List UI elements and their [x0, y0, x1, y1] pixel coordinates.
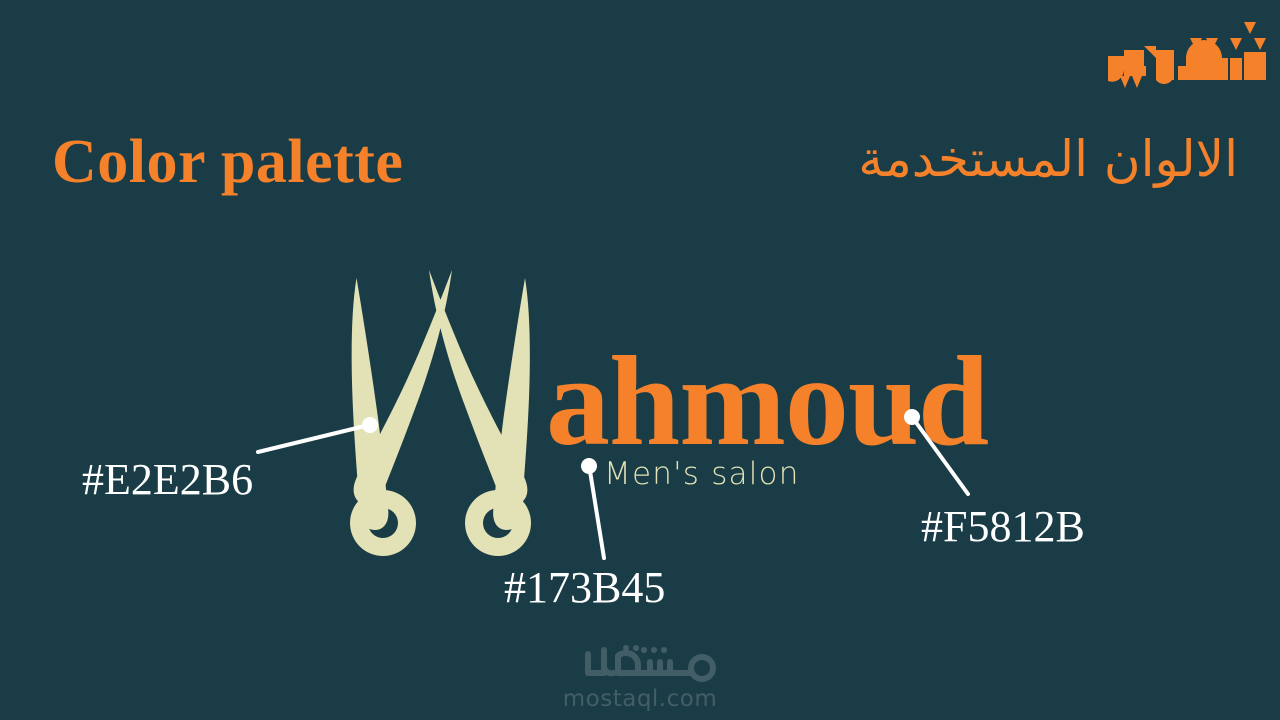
- mostaql-url: mostaql.com: [563, 686, 718, 712]
- swatch-label-cream: #E2E2B6: [82, 458, 253, 502]
- mostaql-logo-icon: [552, 640, 728, 684]
- leader-dot-cream: [362, 417, 378, 433]
- leader-dot-teal: [581, 458, 597, 474]
- swatch-leader-lines: [0, 0, 1280, 720]
- mostaql-watermark: mostaql.com: [0, 640, 1280, 712]
- swatch-label-orange: #F5812B: [921, 505, 1085, 549]
- leader-line-teal: [590, 471, 604, 558]
- color-palette-slide: Color palette الالوان المستخدمة: [0, 0, 1280, 720]
- leader-line-orange: [915, 421, 968, 494]
- swatch-label-teal: #173B45: [504, 566, 665, 610]
- leader-dot-orange: [904, 409, 920, 425]
- leader-line-cream: [258, 426, 365, 452]
